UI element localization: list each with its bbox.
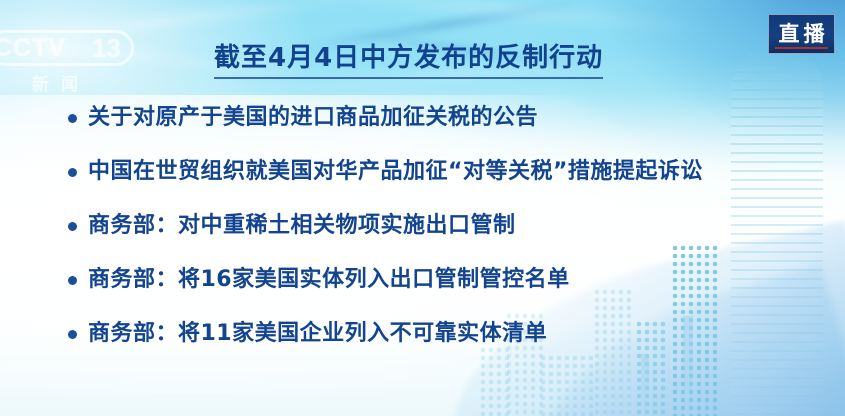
logo-subtitle-xinwen: 新闻 xyxy=(32,70,90,95)
live-badge-label: 直播 xyxy=(775,24,829,45)
bullet-dot-icon xyxy=(68,276,77,285)
logo-cctv-text: CCTV xyxy=(0,34,66,63)
title-underline xyxy=(214,77,603,79)
list-item: 中国在世贸组织就美国对华产品加征“对等关税”措施提起诉讼 xyxy=(68,158,808,212)
list-item-label: 商务部：对中重稀土相关物项实施出口管制 xyxy=(88,212,516,240)
list-item-label: 中国在世贸组织就美国对华产品加征“对等关税”措施提起诉讼 xyxy=(88,158,703,186)
list-item: 关于对原产于美国的进口商品加征关税的公告 xyxy=(68,104,808,158)
bullet-dot-icon xyxy=(68,114,77,123)
list-item: 商务部：将11家美国企业列入不可靠实体清单 xyxy=(68,320,808,374)
list-item-label: 关于对原产于美国的进口商品加征关税的公告 xyxy=(88,104,538,132)
headline-block: 截至4月4日中方发布的反制行动 xyxy=(214,44,603,79)
live-badge: 直播 xyxy=(768,14,835,54)
list-item-label: 商务部：将11家美国企业列入不可靠实体清单 xyxy=(88,320,547,348)
list-item: 商务部：对中重稀土相关物项实施出口管制 xyxy=(68,212,808,266)
bullet-dot-icon xyxy=(68,330,77,339)
logo-channel-number: 13 xyxy=(92,33,121,64)
list-item: 商务部：将16家美国实体列入出口管制管控名单 xyxy=(68,266,808,320)
bullet-dot-icon xyxy=(68,222,77,231)
cctv13-channel-logo: CCTV 13 新闻 xyxy=(0,30,138,92)
bullet-dot-icon xyxy=(68,168,77,177)
broadcast-graphic: CCTV 13 新闻 直播 截至4月4日中方发布的反制行动 关于对原产于美国的进… xyxy=(0,0,845,416)
list-item-label: 商务部：将16家美国实体列入出口管制管控名单 xyxy=(88,266,570,294)
page-title: 截至4月4日中方发布的反制行动 xyxy=(214,44,603,74)
bullet-list: 关于对原产于美国的进口商品加征关税的公告 中国在世贸组织就美国对华产品加征“对等… xyxy=(68,104,808,374)
